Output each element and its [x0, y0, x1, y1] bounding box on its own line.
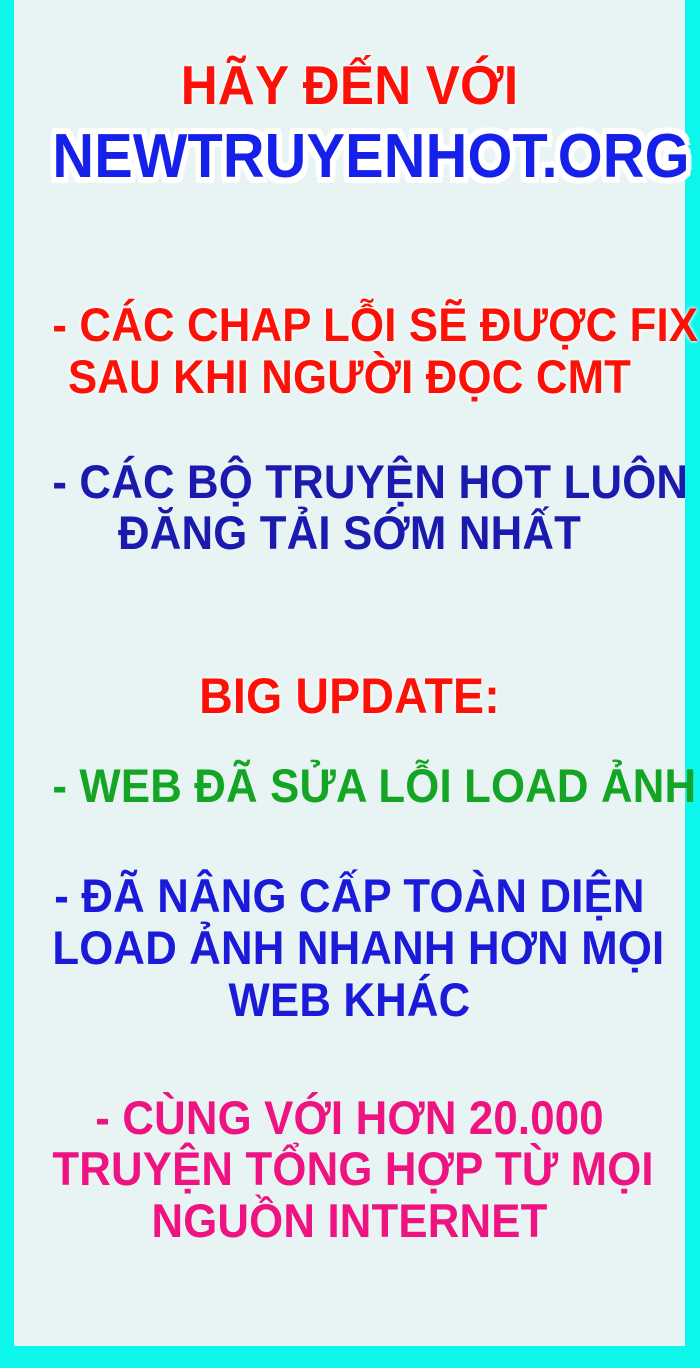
update-image-load-fixed-line-1: - WEB ĐÃ SỬA LỖI LOAD ẢNH — [52, 761, 646, 811]
right-border-stripe — [685, 0, 700, 1368]
big-update-title: BIG UPDATE: — [52, 670, 646, 723]
left-border-stripe — [0, 0, 14, 1368]
banner-content: HÃY ĐẾN VỚI NEWTRUYENHOT.ORG - CÁC CHAP … — [14, 0, 685, 1346]
notice-fix-chapters-line-1: - CÁC CHAP LỖI SẼ ĐƯỢC FIX — [52, 300, 646, 350]
promo-banner: HÃY ĐẾN VỚI NEWTRUYENHOT.ORG - CÁC CHAP … — [0, 0, 700, 1368]
notice-hot-series-line-2: ĐĂNG TẢI SỚM NHẤT — [52, 508, 646, 558]
bottom-border-stripe — [0, 1346, 700, 1368]
invite-headline: HÃY ĐẾN VỚI — [52, 56, 646, 114]
update-library-size-line-3: NGUỒN INTERNET — [52, 1196, 646, 1246]
update-full-upgrade-line-1: - ĐÃ NÂNG CẤP TOÀN DIỆN — [52, 871, 646, 921]
site-domain-wordmark[interactable]: NEWTRUYENHOT.ORG — [52, 124, 646, 190]
notice-fix-chapters-line-2: SAU KHI NGƯỜI ĐỌC CMT — [52, 352, 646, 402]
update-full-upgrade-line-2: LOAD ẢNH NHANH HƠN MỌI — [52, 923, 646, 973]
update-library-size-line-2: TRUYỆN TỔNG HỢP TỪ MỌI — [52, 1144, 646, 1194]
update-library-size-line-1: - CÙNG VỚI HƠN 20.000 — [52, 1093, 646, 1143]
notice-hot-series-line-1: - CÁC BỘ TRUYỆN HOT LUÔN — [52, 457, 646, 507]
update-full-upgrade-line-3: WEB KHÁC — [52, 975, 646, 1025]
